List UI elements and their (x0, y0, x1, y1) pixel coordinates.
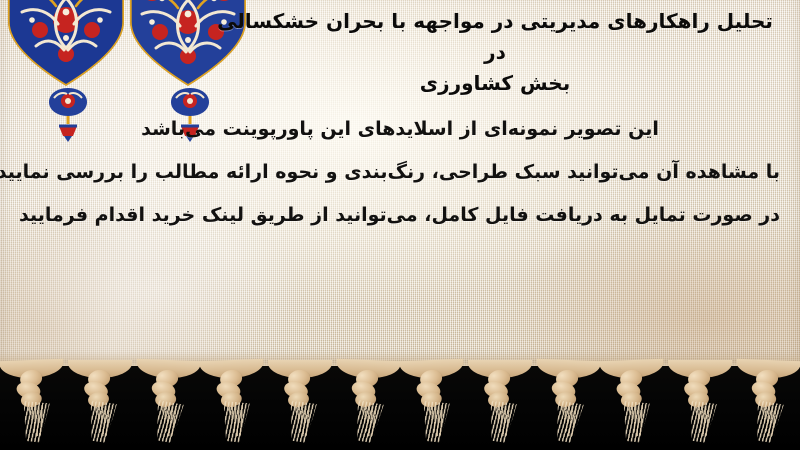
fringe-tassel (337, 359, 396, 449)
fringe-tassel (137, 359, 196, 449)
slide-title: تحلیل راهکارهای مدیریتی در مواجهه با بحر… (215, 6, 775, 99)
fringe-tassel (272, 360, 328, 448)
fringe-tassel (537, 359, 596, 449)
slide-body: این تصویر نمونه‌ای از اسلایدهای این پاور… (20, 108, 780, 237)
slide-canvas: تحلیل راهکارهای مدیریتی در مواجهه با بحر… (0, 0, 800, 450)
slide-title-line-1: تحلیل راهکارهای مدیریتی در مواجهه با بحر… (215, 6, 775, 68)
carpet-fringe (0, 360, 800, 450)
fringe-tassel (72, 360, 128, 448)
fringe-tassel (404, 359, 463, 449)
slide-body-line-2: با مشاهده آن می‌توانید سبک طراحی، رنگ‌بن… (20, 151, 780, 194)
persian-carpet-medallion-icon (6, 0, 126, 92)
slide-title-line-2: بخش کشاورزی (215, 68, 775, 99)
fringe-tassel (737, 359, 796, 449)
fringe-tassel (4, 359, 63, 449)
fringe-tassel (672, 360, 728, 448)
fringe-tassel (604, 359, 663, 449)
fringe-tassel (472, 360, 528, 448)
slide-body-line-3: در صورت تمایل به دریافت فایل کامل، می‌تو… (20, 194, 780, 237)
slide-body-line-1: این تصویر نمونه‌ای از اسلایدهای این پاور… (20, 108, 780, 151)
fringe-tassel (204, 359, 263, 449)
